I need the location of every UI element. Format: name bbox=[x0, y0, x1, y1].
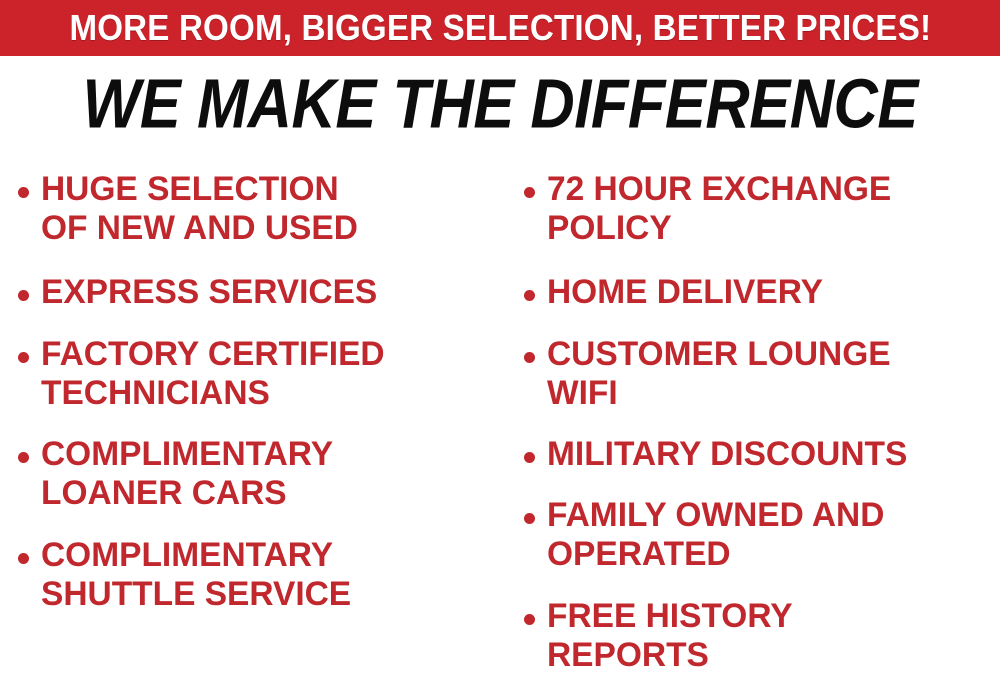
bullet-dot-icon bbox=[524, 290, 535, 301]
list-item-label: HUGE SELECTION OF NEW AND USED bbox=[41, 170, 358, 248]
list-item-label: COMPLIMENTARY LOANER CARS bbox=[41, 435, 333, 513]
list-item-label: FREE HISTORY REPORTS bbox=[547, 597, 793, 675]
list-item-label: MILITARY DISCOUNTS bbox=[547, 435, 907, 474]
list-item: 72 HOUR EXCHANGE POLICY bbox=[524, 170, 897, 248]
bullet-dot-icon bbox=[18, 352, 29, 363]
list-item: COMPLIMENTARY LOANER CARS bbox=[18, 435, 338, 513]
list-item: COMPLIMENTARY SHUTTLE SERVICE bbox=[18, 536, 356, 614]
bullet-dot-icon bbox=[18, 187, 29, 198]
headline-container: WE MAKE THE DIFFERENCE bbox=[0, 62, 1000, 144]
list-item-label: COMPLIMENTARY SHUTTLE SERVICE bbox=[41, 536, 351, 614]
list-item: EXPRESS SERVICES bbox=[18, 273, 382, 312]
list-item: HUGE SELECTION OF NEW AND USED bbox=[18, 170, 363, 248]
bullet-dot-icon bbox=[524, 452, 535, 463]
list-item: CUSTOMER LOUNGE WIFI bbox=[524, 335, 896, 413]
list-item-label: HOME DELIVERY bbox=[547, 273, 823, 312]
benefits-columns: HUGE SELECTION OF NEW AND USED EXPRESS S… bbox=[0, 150, 1000, 694]
bullet-dot-icon bbox=[524, 187, 535, 198]
bullet-dot-icon bbox=[524, 352, 535, 363]
benefits-column-right: 72 HOUR EXCHANGE POLICY HOME DELIVERY CU… bbox=[518, 150, 1000, 694]
list-item: HOME DELIVERY bbox=[524, 273, 827, 312]
bullet-dot-icon bbox=[18, 290, 29, 301]
list-item: FACTORY CERTIFIED TECHNICIANS bbox=[18, 335, 390, 413]
banner-headline-text: MORE ROOM, BIGGER SELECTION, BETTER PRIC… bbox=[69, 10, 931, 46]
list-item-label: FAMILY OWNED AND OPERATED bbox=[547, 496, 884, 574]
list-item: FREE HISTORY REPORTS bbox=[524, 597, 796, 675]
list-item: FAMILY OWNED AND OPERATED bbox=[524, 496, 890, 574]
advertisement-banner: MORE ROOM, BIGGER SELECTION, BETTER PRIC… bbox=[0, 0, 1000, 694]
list-item-label: EXPRESS SERVICES bbox=[41, 273, 377, 312]
bullet-dot-icon bbox=[524, 513, 535, 524]
bullet-dot-icon bbox=[18, 452, 29, 463]
list-item-label: CUSTOMER LOUNGE WIFI bbox=[547, 335, 891, 413]
benefits-column-left: HUGE SELECTION OF NEW AND USED EXPRESS S… bbox=[14, 150, 500, 694]
main-headline: WE MAKE THE DIFFERENCE bbox=[82, 67, 917, 139]
bullet-dot-icon bbox=[18, 553, 29, 564]
list-item-label: FACTORY CERTIFIED TECHNICIANS bbox=[41, 335, 385, 413]
list-item: MILITARY DISCOUNTS bbox=[524, 435, 913, 474]
list-item-label: 72 HOUR EXCHANGE POLICY bbox=[547, 170, 891, 248]
bullet-dot-icon bbox=[524, 614, 535, 625]
top-red-banner: MORE ROOM, BIGGER SELECTION, BETTER PRIC… bbox=[0, 0, 1000, 56]
